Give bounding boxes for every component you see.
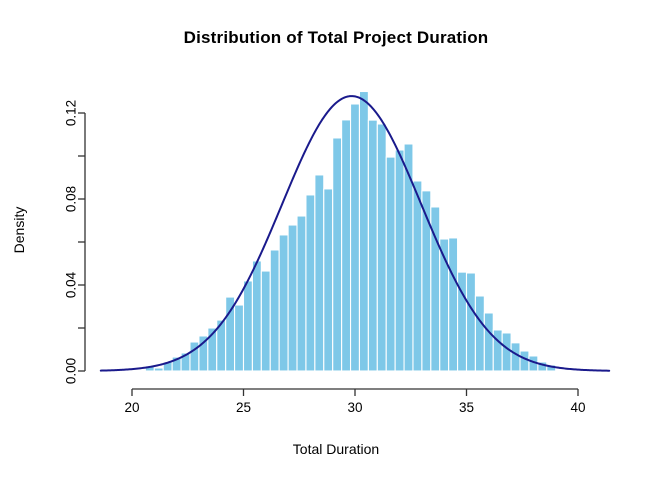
x-tick-labels: 2025303540: [124, 400, 585, 415]
histogram-bar: [351, 104, 360, 371]
histogram-bar: [261, 271, 270, 371]
histogram-bar: [235, 305, 244, 371]
histogram-bar: [520, 351, 529, 371]
histogram-bar: [154, 368, 163, 371]
histogram-bar: [244, 281, 253, 371]
histogram-bar: [404, 144, 413, 371]
histogram-bar: [395, 150, 404, 371]
histogram-bar: [377, 124, 386, 371]
histogram-bar: [199, 336, 208, 371]
histogram-bar: [270, 250, 279, 371]
histogram-bar: [475, 296, 484, 371]
histogram-bar: [449, 238, 458, 371]
histogram-bars: [145, 92, 555, 372]
y-tick-labels: 0.000.040.080.12: [64, 100, 79, 384]
histogram-bar: [333, 138, 342, 371]
x-tick-label: 40: [570, 400, 585, 415]
histogram-bar: [386, 157, 395, 371]
histogram-bar: [484, 313, 493, 371]
histogram-bar: [324, 189, 333, 371]
x-tick-label: 20: [124, 400, 139, 415]
histogram-bar: [315, 175, 324, 371]
histogram-bar: [413, 181, 422, 371]
histogram-bar: [342, 120, 351, 371]
y-tick-label: 0.00: [64, 358, 79, 384]
histogram-bar: [359, 92, 368, 372]
histogram-bar: [511, 343, 520, 371]
histogram-bar: [297, 216, 306, 371]
y-tick-label: 0.12: [64, 100, 79, 126]
x-tick-label: 30: [347, 400, 362, 415]
histogram-plot-canvas: Distribution of Total Project Duration T…: [0, 0, 672, 480]
y-tick-label: 0.04: [64, 271, 79, 298]
x-axis: [132, 389, 578, 396]
x-tick-label: 35: [459, 400, 474, 415]
histogram-bar: [368, 120, 377, 371]
y-axis: [78, 113, 85, 371]
histogram-bar: [502, 333, 511, 371]
x-tick-label: 25: [236, 400, 251, 415]
histogram-bar: [467, 273, 476, 371]
chart-drawing-area: 0.000.040.080.12 2025303540: [0, 0, 672, 480]
histogram-bar: [493, 330, 502, 371]
histogram-bar: [252, 261, 261, 371]
histogram-bar: [306, 195, 315, 371]
histogram-bar: [288, 225, 297, 371]
y-tick-label: 0.08: [64, 186, 79, 212]
histogram-bar: [279, 235, 288, 371]
